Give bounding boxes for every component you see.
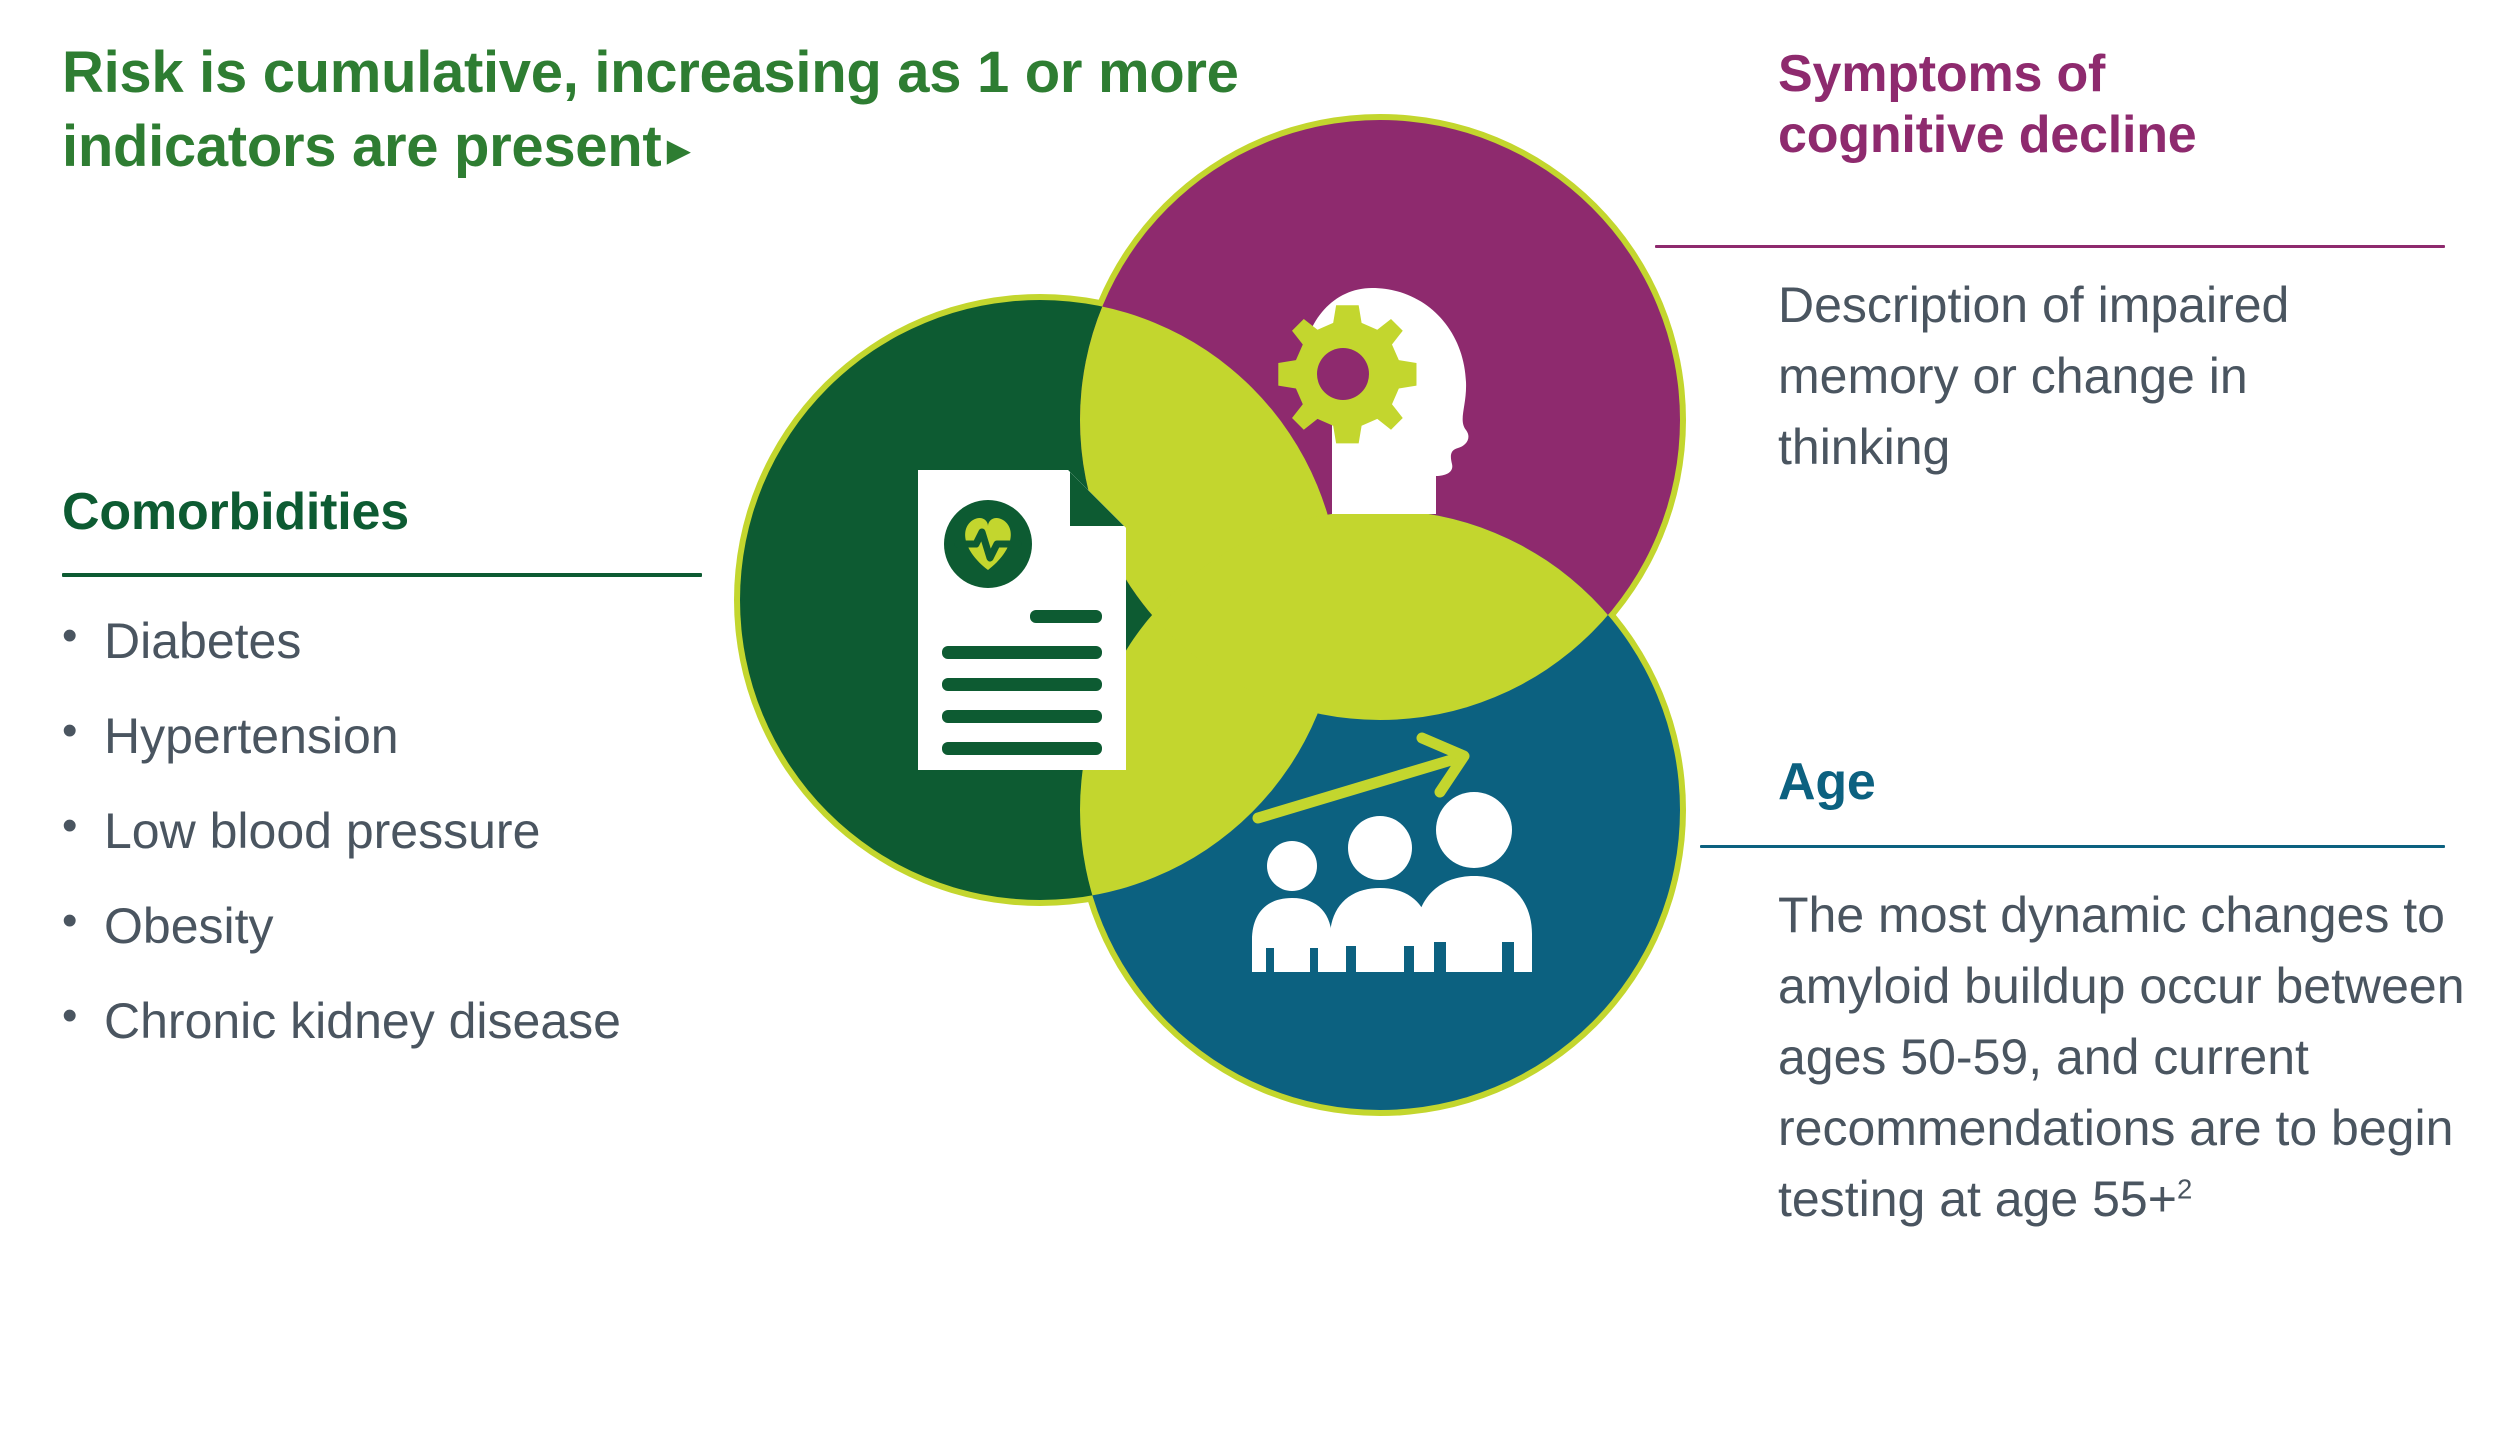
age-body-sentence: The most dynamic changes to amyloid buil… (1778, 887, 2465, 1227)
age-footnote-marker: 2 (2177, 1173, 2192, 1204)
list-item: Diabetes (62, 616, 782, 666)
comorbidities-list: Diabetes Hypertension Low blood pressure… (62, 616, 782, 1091)
list-item: Hypertension (62, 711, 782, 761)
risk-venn-diagram (640, 70, 1800, 1230)
age-divider (1700, 845, 2445, 848)
medical-record-icon (918, 470, 1126, 770)
symptoms-title-line1: Symptoms of (1778, 44, 2478, 105)
symptoms-title-line2: cognitive decline (1778, 105, 2478, 166)
symptoms-divider (1655, 245, 2445, 248)
list-item: Obesity (62, 901, 782, 951)
comorbidities-title: Comorbidities (62, 482, 409, 543)
symptoms-title: Symptoms of cognitive decline (1778, 44, 2478, 167)
symptoms-body-text: Description of impaired memory or change… (1778, 270, 2418, 483)
list-item: Low blood pressure (62, 806, 782, 856)
age-title: Age (1778, 752, 1876, 813)
comorbidities-divider (62, 573, 702, 577)
age-body-text: The most dynamic changes to amyloid buil… (1778, 880, 2478, 1235)
list-item: Chronic kidney disease (62, 996, 782, 1046)
